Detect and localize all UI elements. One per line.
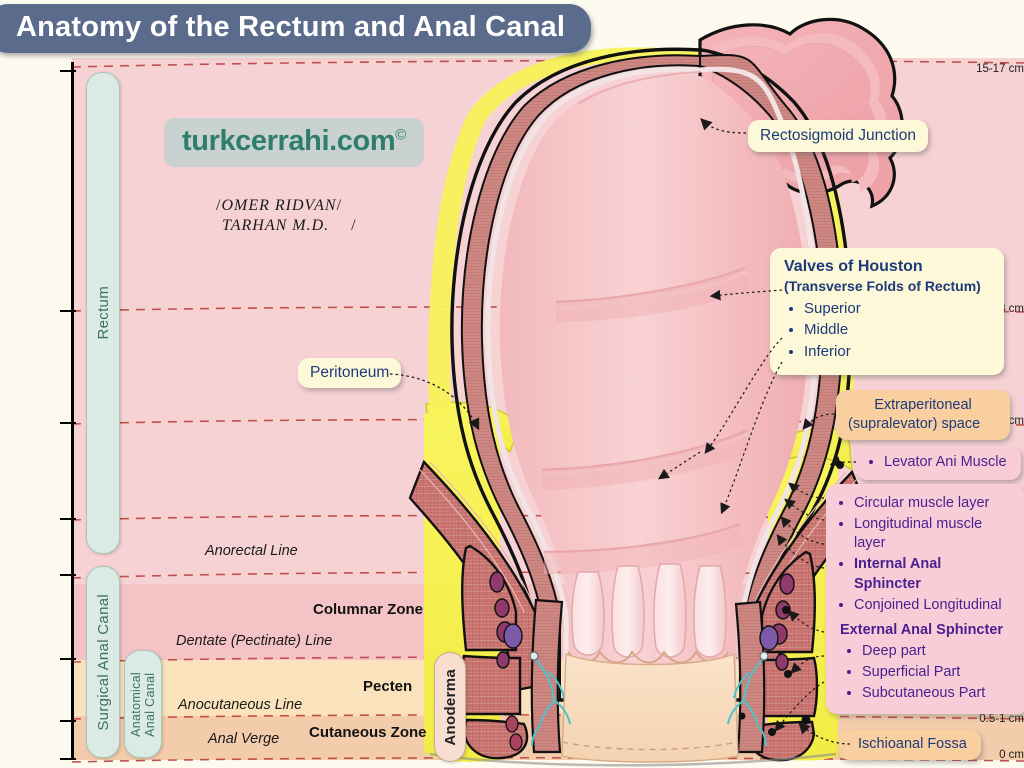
ruler-tick (60, 310, 76, 312)
dash-boundary-15cm (72, 58, 1024, 72)
callout-peritoneum-label: Peritoneum (310, 364, 389, 381)
span-label-surgical-text: Surgical Anal Canal (95, 594, 112, 731)
ruler-tick (60, 658, 76, 660)
callout-levator-ani-muscle[interactable]: Levator Ani Muscle (856, 446, 1021, 480)
callout-valves-list: Superior Middle Inferior (784, 299, 990, 362)
callout-external-anal-sphincter[interactable]: External Anal Sphincter Deep part Superf… (826, 614, 1024, 714)
ruler-tick (60, 720, 76, 722)
ruler-tick (60, 518, 76, 520)
eas-item-superficial-part: Superficial Part (862, 663, 1014, 682)
eas-item-subcutaneous-part: Subcutaneous Part (862, 684, 1014, 703)
valves-item-middle: Middle (804, 320, 990, 340)
callout-extraperitoneal-space[interactable]: Extraperitoneal (supralevator) space (836, 390, 1010, 440)
author-signature: /OMER RIDVAN/ TARHAN M.D./ (216, 196, 357, 236)
watermark-logo: turkcerrahi.com© (164, 118, 424, 167)
signature-line-1: OMER RIDVAN (221, 197, 336, 214)
span-label-anoderma-text: Anoderma (442, 669, 459, 746)
depth-ruler-axis (71, 62, 74, 760)
ruler-tick (60, 70, 76, 72)
ruler-tick (60, 574, 76, 576)
callout-extraperitoneal-line1: Extraperitoneal (848, 396, 998, 415)
span-label-surgical-anal-canal: Surgical Anal Canal (86, 566, 120, 758)
valves-item-inferior: Inferior (804, 342, 990, 362)
callout-ischioanal-fossa[interactable]: Ischioanal Fossa (838, 730, 981, 760)
label-dentate-line: Dentate (Pectinate) Line (176, 633, 332, 649)
diagram-canvas: Anatomy of the Rectum and Anal Canal tur… (0, 0, 1024, 768)
callout-ischioanal-label: Ischioanal Fossa (858, 736, 967, 752)
levator-item-label: Levator Ani Muscle (884, 453, 1007, 472)
ruler-tick (60, 422, 76, 424)
copyright-symbol: © (395, 126, 406, 143)
callout-eas-title: External Anal Sphincter (840, 621, 1014, 640)
ruler-tick (60, 758, 76, 760)
span-label-anoderma: Anoderma (434, 652, 466, 762)
span-label-rectum-text: Rectum (95, 286, 112, 339)
callout-valves-subtitle: (Transverse Folds of Rectum) (784, 277, 990, 295)
muscle-item-longitudinal: Longitudinal muscle layer (854, 515, 1012, 553)
page-title: Anatomy of the Rectum and Anal Canal (0, 4, 591, 53)
callout-rectosigmoid-junction[interactable]: Rectosigmoid Junction (748, 120, 928, 152)
span-label-anatomical-anal-canal: AnatomicalAnal Canal (124, 650, 162, 758)
label-pecten: Pecten (363, 678, 412, 695)
valves-item-superior: Superior (804, 299, 990, 319)
callout-peritoneum[interactable]: Peritoneum (298, 358, 401, 388)
callout-extraperitoneal-line2: (supralevator) space (848, 415, 998, 434)
span-label-anatomical-text: AnatomicalAnal Canal (129, 672, 157, 737)
span-label-rectum: Rectum (86, 72, 120, 554)
callout-eas-list: Deep part Superficial Part Subcutaneous … (840, 642, 1014, 703)
watermark-text: turkcerrahi.com (182, 125, 395, 157)
label-anorectal-line: Anorectal Line (205, 543, 298, 559)
label-cutaneous-zone: Cutaneous Zone (309, 724, 427, 741)
callout-levator-list: Levator Ani Muscle (862, 453, 1007, 472)
label-anocutaneous-line: Anocutaneous Line (178, 697, 302, 713)
ruler-label-0_5-1: 0.5-1 cm (958, 713, 1024, 725)
callout-rectosigmoid-label: Rectosigmoid Junction (760, 127, 916, 144)
ruler-label-15-17: 15-17 cm (958, 63, 1024, 75)
callout-valves-of-houston[interactable]: Valves of Houston (Transverse Folds of R… (770, 248, 1004, 375)
eas-item-deep-part: Deep part (862, 642, 1014, 661)
label-anal-verge: Anal Verge (208, 731, 279, 747)
muscle-item-internal-anal-sphincter: Internal Anal Sphincter (854, 555, 1012, 593)
callout-muscles-list: Circular muscle layer Longitudinal muscl… (830, 494, 1012, 634)
callout-valves-title: Valves of Houston (784, 256, 990, 277)
muscle-item-circular: Circular muscle layer (854, 494, 1012, 513)
signature-line-2: TARHAN M.D. (216, 217, 329, 234)
label-columnar-zone: Columnar Zone (313, 601, 423, 618)
